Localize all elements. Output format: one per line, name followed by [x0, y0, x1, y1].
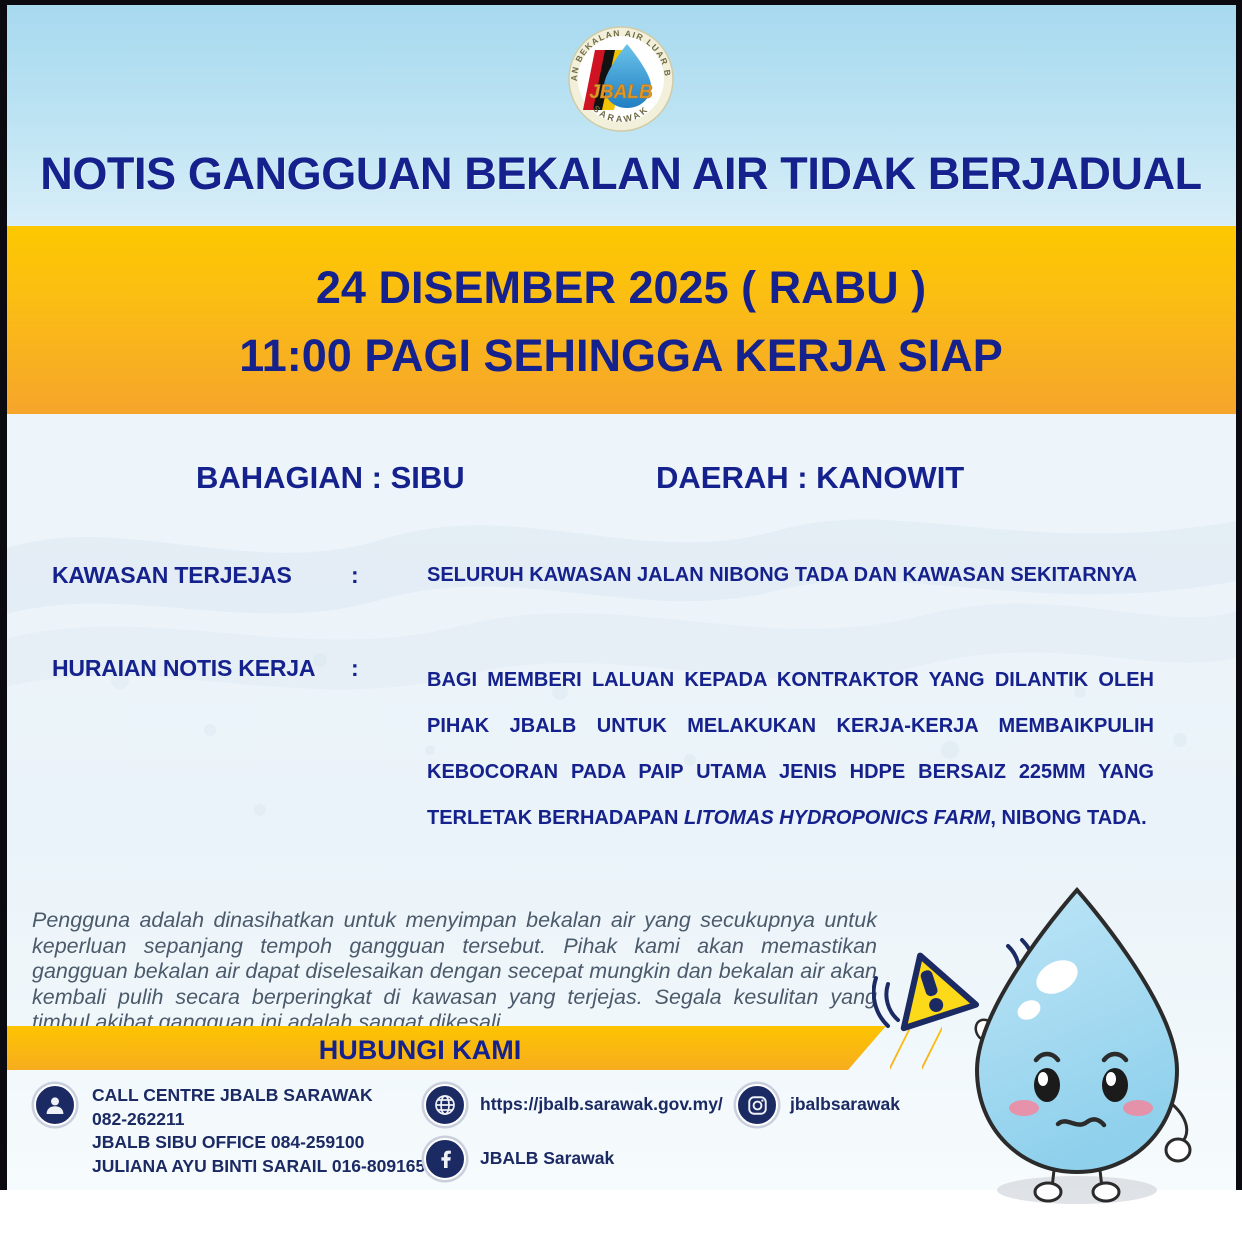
- desc-part2: , NIBONG TADA.: [990, 807, 1146, 829]
- affected-areas-field: KAWASAN TERJEJAS : SELURUH KAWASAN JALAN…: [52, 562, 1212, 589]
- call-centre-number[interactable]: 082-262211: [92, 1108, 435, 1132]
- affected-areas-value: SELURUH KAWASAN JALAN NIBONG TADA DAN KA…: [427, 564, 1207, 587]
- logo-wordmark: JBALB: [589, 82, 653, 103]
- sibu-office-contact[interactable]: JBALB SIBU OFFICE 084-259100: [92, 1131, 435, 1155]
- officer-contact[interactable]: JULIANA AYU BINTI SARAIL 016-8091659: [92, 1155, 435, 1179]
- jbalb-logo-icon: JABATAN BEKALAN AIR LUAR BANDAR SARAWAK …: [561, 18, 681, 136]
- person-icon: [34, 1084, 76, 1126]
- notice-date: 24 DISEMBER 2025 ( RABU ): [6, 262, 1236, 314]
- call-centre-block: CALL CENTRE JBALB SARAWAK 082-262211 JBA…: [92, 1084, 435, 1178]
- facebook-icon[interactable]: [424, 1138, 466, 1180]
- work-description-label: HURAIAN NOTIS KERJA: [52, 655, 315, 681]
- border-top: [0, 0, 1242, 5]
- notice-poster: JABATAN BEKALAN AIR LUAR BANDAR SARAWAK …: [0, 0, 1242, 1234]
- instagram-handle[interactable]: jbalbsarawak: [790, 1094, 900, 1115]
- call-centre-name: CALL CENTRE JBALB SARAWAK: [92, 1084, 435, 1108]
- page-title: NOTIS GANGGUAN BEKALAN AIR TIDAK BERJADU…: [0, 148, 1242, 200]
- globe-icon[interactable]: [424, 1084, 466, 1126]
- work-description-field: HURAIAN NOTIS KERJA : BAGI MEMBERI LALUA…: [52, 655, 1212, 682]
- notice-time: 11:00 PAGI SEHINGGA KERJA SIAP: [6, 330, 1236, 382]
- facebook-page[interactable]: JBALB Sarawak: [480, 1148, 614, 1169]
- desc-part1: BAGI MEMBERI LALUAN KEPADA KONTRAKTOR YA…: [427, 669, 1154, 829]
- advisory-text: Pengguna adalah dinasihatkan untuk menyi…: [32, 908, 877, 1036]
- work-description-value: BAGI MEMBERI LALUAN KEPADA KONTRAKTOR YA…: [427, 657, 1154, 841]
- contact-details: CALL CENTRE JBALB SARAWAK 082-262211 JBA…: [0, 1082, 1242, 1192]
- division-label: BAHAGIAN : SIBU: [196, 460, 465, 496]
- district-label: DAERAH : KANOWIT: [656, 460, 964, 496]
- affected-areas-colon: :: [351, 562, 359, 589]
- instagram-icon[interactable]: [736, 1084, 778, 1126]
- website-url[interactable]: https://jbalb.sarawak.gov.my/: [480, 1094, 723, 1115]
- border-right: [1236, 0, 1242, 1190]
- date-time-band: 24 DISEMBER 2025 ( RABU ) 11:00 PAGI SEH…: [6, 226, 1236, 414]
- affected-areas-label: KAWASAN TERJEJAS: [52, 562, 292, 588]
- desc-italic-farm: LITOMAS HYDROPONICS FARM: [684, 807, 990, 829]
- border-left: [0, 0, 7, 1190]
- contact-banner: HUBUNGI KAMI: [6, 1026, 886, 1070]
- jbalb-logo: JABATAN BEKALAN AIR LUAR BANDAR SARAWAK …: [561, 18, 681, 136]
- work-description-colon: :: [351, 655, 359, 682]
- contact-banner-title: HUBUNGI KAMI: [6, 1035, 834, 1066]
